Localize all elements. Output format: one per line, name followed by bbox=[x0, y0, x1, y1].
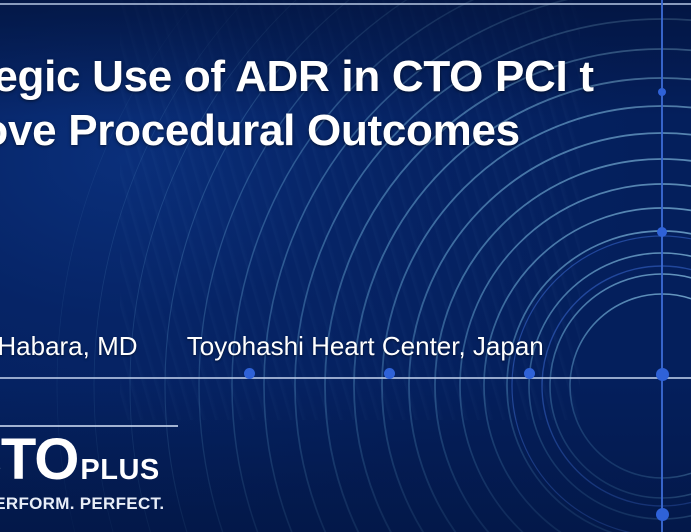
presentation-slide: rategic Use of ADR in CTO PCI t prove Pr… bbox=[0, 0, 691, 532]
title-line-1: rategic Use of ADR in CTO PCI t bbox=[0, 52, 594, 101]
decor-node bbox=[524, 368, 535, 379]
logo-wordmark: CTOPLUS bbox=[0, 431, 260, 489]
logo-cto-text: CTO bbox=[0, 427, 78, 492]
presenter-affiliation: Toyohashi Heart Center, Japan bbox=[187, 331, 544, 361]
middle-divider-rule bbox=[0, 377, 691, 379]
cto-plus-logo: F® CTOPLUS N. PERFORM. PERFECT. bbox=[0, 392, 260, 514]
logo-plus-text: PLUS bbox=[80, 454, 159, 486]
decor-node bbox=[384, 368, 395, 379]
presenter-name: oto Habara, MD bbox=[0, 331, 138, 361]
decor-node bbox=[656, 368, 669, 381]
logo-org-mark: F® bbox=[0, 392, 260, 422]
slide-title: rategic Use of ADR in CTO PCI t prove Pr… bbox=[0, 50, 691, 158]
top-divider-rule bbox=[0, 3, 691, 5]
title-line-2: prove Procedural Outcomes bbox=[0, 104, 691, 158]
decor-node bbox=[657, 227, 667, 237]
decor-node bbox=[656, 508, 669, 521]
decor-node bbox=[244, 368, 255, 379]
logo-tagline: N. PERFORM. PERFECT. bbox=[0, 494, 260, 514]
slide-byline: oto Habara, MD Toyohashi Heart Center, J… bbox=[0, 330, 544, 362]
